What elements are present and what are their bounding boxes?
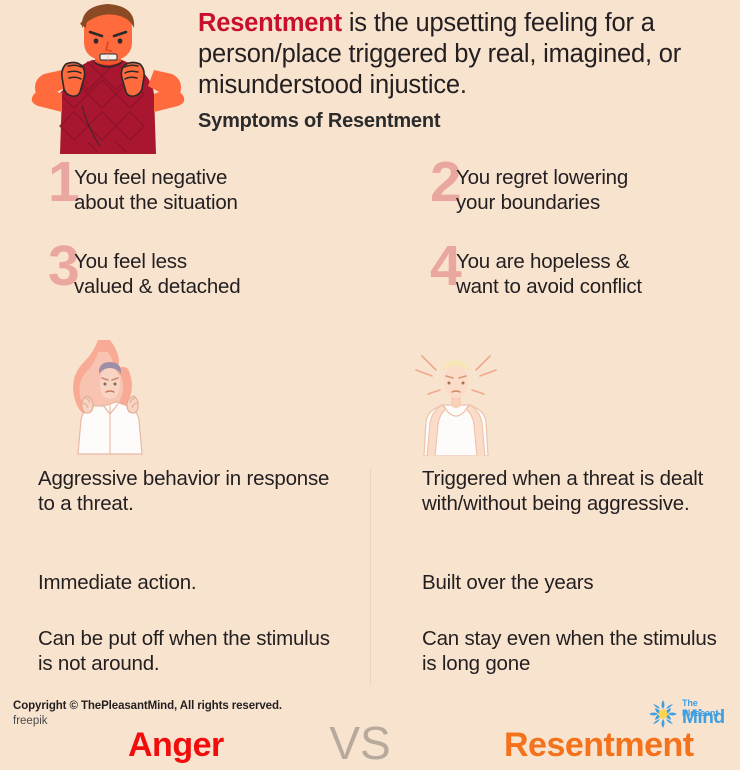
symptom-text: You feel less valued & detached bbox=[74, 246, 240, 299]
symptom-item-4: 4 You are hopeless & want to avoid confl… bbox=[430, 246, 730, 318]
infographic-canvas: Resentment is the upsetting feeling for … bbox=[0, 0, 740, 739]
resentment-point-3: Can stay even when the stimulus is long … bbox=[422, 626, 722, 676]
symptom-item-1: 1 You feel negative about the situation bbox=[48, 162, 398, 234]
symptom-number: 4 bbox=[430, 242, 456, 291]
symptom-item-2: 2 You regret lowering your boundaries bbox=[430, 162, 730, 234]
symptom-text-line1: You feel less bbox=[74, 249, 240, 274]
symptom-text-line1: You are hopeless & bbox=[456, 249, 642, 274]
symptoms-row: 3 You feel less valued & detached 4 You … bbox=[0, 246, 740, 318]
column-divider bbox=[370, 468, 371, 686]
symptom-number: 2 bbox=[430, 158, 456, 207]
anger-point-1: Aggressive behavior in response to a thr… bbox=[38, 466, 348, 516]
symptom-item-3: 3 You feel less valued & detached bbox=[48, 246, 398, 318]
symptoms-heading: Symptoms of Resentment bbox=[198, 110, 726, 133]
symptom-text-line2: about the situation bbox=[74, 190, 238, 215]
copyright-text: Copyright © ThePleasantMind, All rights … bbox=[13, 700, 282, 712]
symptom-text: You regret lowering your boundaries bbox=[456, 162, 628, 215]
symptom-text-line1: You regret lowering bbox=[456, 165, 628, 190]
stressed-man-tanktop-icon bbox=[410, 340, 502, 456]
starburst-flower-icon bbox=[648, 699, 678, 729]
pleasant-mind-logo: The Pleasant Mind bbox=[648, 697, 734, 731]
versus-banner: Anger VS Resentment bbox=[0, 338, 740, 460]
symptom-text-line1: You feel negative bbox=[74, 165, 238, 190]
anger-point-2: Immediate action. bbox=[38, 570, 196, 595]
hero-keyword: Resentment bbox=[198, 9, 342, 37]
comparison-section: Aggressive behavior in response to a thr… bbox=[0, 466, 740, 688]
symptoms-row: 1 You feel negative about the situation … bbox=[0, 162, 740, 234]
attribution-text: freepik bbox=[13, 715, 48, 727]
resentment-point-2: Built over the years bbox=[422, 570, 593, 595]
symptom-text: You are hopeless & want to avoid conflic… bbox=[456, 246, 642, 299]
symptoms-section: 1 You feel negative about the situation … bbox=[0, 162, 740, 322]
hero-section: Resentment is the upsetting feeling for … bbox=[0, 0, 740, 150]
symptom-number: 3 bbox=[48, 242, 74, 291]
symptom-text-line2: want to avoid conflict bbox=[456, 274, 642, 299]
symptom-text-line2: valued & detached bbox=[74, 274, 240, 299]
footer-section: Copyright © ThePleasantMind, All rights … bbox=[0, 690, 740, 739]
angry-man-flame-icon bbox=[62, 338, 158, 456]
symptom-text-line2: your boundaries bbox=[456, 190, 628, 215]
hero-text-block: Resentment is the upsetting feeling for … bbox=[198, 8, 726, 133]
anger-point-3: Can be put off when the stimulus is not … bbox=[38, 626, 348, 676]
symptom-text: You feel negative about the situation bbox=[74, 162, 238, 215]
logo-main-text: Mind bbox=[682, 707, 725, 729]
hero-lead-paragraph: Resentment is the upsetting feeling for … bbox=[198, 8, 726, 101]
symptom-number: 1 bbox=[48, 158, 74, 207]
resentment-point-1: Triggered when a threat is dealt with/wi… bbox=[422, 466, 722, 516]
frustrated-man-thumbs-down-icon bbox=[22, 2, 194, 154]
